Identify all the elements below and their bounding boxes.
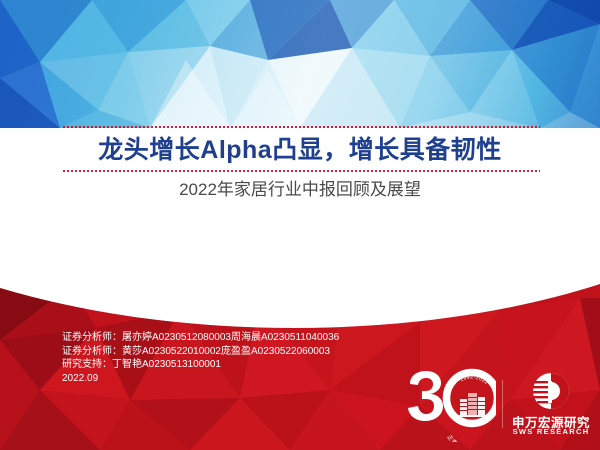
logo-divider: [502, 380, 503, 428]
analyst-credits: 证券分析师：屠亦婷A0230512080003周海晨A0230511040036…: [62, 331, 339, 385]
svg-text:正青春 新时代: 正青春 新时代: [445, 434, 482, 442]
title-slide: 龙头增长Alpha凸显，增长具备韧性 2022年家居行业中报回顾及展望 证券分析…: [0, 0, 600, 450]
anniversary-30-icon: 1992-2022: [404, 368, 496, 442]
page-title: 龙头增长Alpha凸显，增长具备韧性: [0, 131, 600, 169]
credit-line-analyst-1: 证券分析师：屠亦婷A0230512080003周海晨A0230511040036: [62, 331, 339, 345]
page-subtitle: 2022年家居行业中报回顾及展望: [0, 178, 600, 202]
publication-date: 2022.09: [62, 372, 339, 386]
sws-circle-mark-icon: [508, 372, 594, 412]
brand-name-en: SWS RESEARCH: [508, 427, 594, 436]
credit-line-analyst-2: 证券分析师：黄莎A0230522010002庞盈盈A0230522060003: [62, 345, 339, 359]
credit-line-research-support: 研究支持：丁智艳A0230513100001: [62, 358, 339, 372]
header-geometric-banner: [0, 0, 600, 128]
anniversary-tagline: 正青春 新时代: [445, 434, 482, 442]
divider-dotted-bottom: [62, 170, 540, 172]
header-polygon-art: [0, 0, 600, 128]
sws-research-logo: 申万宏源研究 SWS RESEARCH: [508, 372, 594, 438]
divider-dotted-top: [62, 126, 540, 128]
anniversary-logo: 1992-2022: [404, 368, 496, 442]
